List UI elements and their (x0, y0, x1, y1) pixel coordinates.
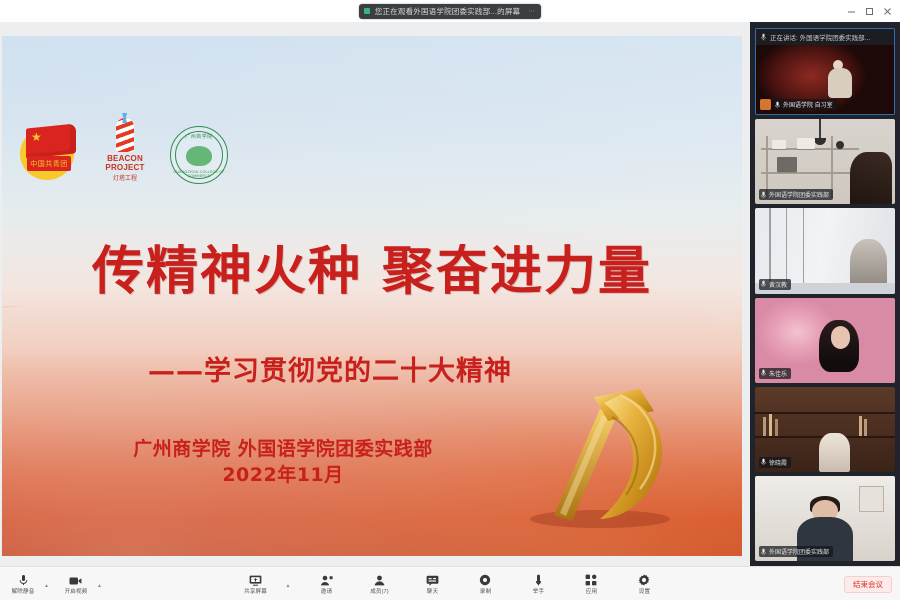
share-screen-button[interactable]: 共享屏幕 (239, 573, 273, 595)
beacon-line2: PROJECT (94, 163, 156, 172)
participant-tile-5[interactable]: 徐晓霞 (755, 387, 895, 472)
microphone-icon (761, 33, 766, 41)
slide-main-title: 传精神火种 聚奋进力量 (2, 246, 742, 298)
microphone-icon (761, 458, 766, 466)
microphone-icon (761, 191, 766, 199)
chat-label: 聊天 (427, 587, 438, 595)
settings-label: 设置 (639, 587, 650, 595)
seal-bottom-text: GUANGZHOU COLLEGE OF COMMERCE (171, 170, 227, 178)
apps-label: 应用 (586, 587, 597, 595)
seal-top-text: 广州商学院 (171, 133, 227, 140)
meeting-toolbar: 解除静音 ▲ 开启视频 ▲ 共享屏幕 ▲ (0, 566, 900, 600)
record-label: 录制 (480, 587, 491, 595)
raise-hand-label: 举手 (533, 587, 544, 595)
minimize-icon[interactable] (843, 3, 860, 20)
maximize-icon[interactable] (861, 3, 878, 20)
video-options-chevron-down-icon[interactable]: ▲ (97, 583, 102, 589)
raise-hand-button[interactable]: 举手 (521, 573, 555, 595)
participant-name-text: 外国语学院 自习室 (783, 100, 833, 109)
window-controls (843, 0, 896, 22)
participant-tile-3[interactable]: 黄汉教 (755, 208, 895, 293)
participant-name-text: 外国语学院团委实践部 (769, 547, 829, 556)
meeting-body: ★ 中国共青团 BEACON PROJECT 灯塔工程 广州商学院 GUANGZ… (0, 22, 900, 566)
shared-screen-stage[interactable]: ★ 中国共青团 BEACON PROJECT 灯塔工程 广州商学院 GUANGZ… (0, 22, 750, 566)
toolbar-right-group: 结束会议 (844, 574, 892, 594)
mute-options-chevron-down-icon[interactable]: ▲ (44, 583, 49, 589)
microphone-icon (775, 101, 780, 109)
close-icon[interactable] (879, 3, 896, 20)
slide-organization: 广州商学院 外国语学院团委实践部 2022年11月 (2, 436, 742, 488)
mute-button-label: 解除静音 (12, 587, 35, 595)
apps-button[interactable]: 应用 (574, 573, 608, 595)
grid-apps-icon (585, 573, 597, 586)
share-options-chevron-down-icon[interactable]: ▲ (286, 583, 291, 589)
screen-share-banner[interactable]: 您正在观看外国语学院团委实践部...的屏幕 ⋯ (359, 4, 541, 19)
video-button[interactable]: 开启视频 (59, 573, 93, 595)
presentation-slide: ★ 中国共青团 BEACON PROJECT 灯塔工程 广州商学院 GUANGZ… (2, 36, 742, 556)
participant-name-text: 徐晓霞 (769, 458, 787, 467)
toolbar-left-group: 解除静音 ▲ 开启视频 ▲ (6, 573, 102, 595)
microphone-icon (761, 280, 766, 288)
share-banner-menu-icon[interactable]: ⋯ (528, 7, 534, 15)
monitor-icon (249, 573, 262, 586)
slide-subtitle: ——学习贯彻党的二十大精神 (2, 349, 742, 388)
participant-name-badge: 外国语学院团委实践部 (759, 189, 833, 200)
participant-tile-2[interactable]: 外国语学院团委实践部 (755, 119, 895, 204)
gear-icon (638, 573, 650, 586)
slide-logo-row: ★ 中国共青团 BEACON PROJECT 灯塔工程 广州商学院 GUANGZ… (18, 118, 228, 184)
title-bar: 您正在观看外国语学院团委实践部...的屏幕 ⋯ (0, 0, 900, 22)
camera-icon (69, 573, 82, 586)
settings-button[interactable]: 设置 (627, 573, 661, 595)
video-button-label: 开启视频 (65, 587, 88, 595)
guangzhou-college-seal: 广州商学院 GUANGZHOU COLLEGE OF COMMERCE (170, 126, 228, 184)
invite-button[interactable]: 邀请 (309, 573, 343, 595)
members-label: 成员(7) (370, 587, 389, 595)
beacon-project-logo: BEACON PROJECT 灯塔工程 (94, 118, 156, 184)
microphone-icon (761, 369, 766, 377)
communist-youth-league-logo: ★ 中国共青团 (18, 122, 80, 184)
invite-label: 邀请 (321, 587, 332, 595)
participant-name-badge: 外国语学院团委实践部 (759, 546, 833, 557)
beacon-cn: 灯塔工程 (94, 173, 156, 182)
end-meeting-button[interactable]: 结束会议 (844, 576, 892, 594)
participant-name-text: 黄汉教 (769, 280, 787, 289)
share-status-dot (364, 8, 370, 14)
host-avatar-chip (760, 99, 771, 110)
record-button[interactable]: 录制 (468, 573, 502, 595)
share-screen-label: 共享屏幕 (244, 587, 267, 595)
participant-name-badge: 朱佳乐 (759, 368, 791, 379)
participant-tile-6[interactable]: 外国语学院团委实践部 (755, 476, 895, 561)
active-speaker-bar: 正在讲话: 外国语学院团委实践部... (756, 29, 894, 45)
participant-name-text: 朱佳乐 (769, 369, 787, 378)
members-button[interactable]: 成员(7) (362, 573, 396, 595)
participant-name-badge: 黄汉教 (759, 279, 791, 290)
people-icon (373, 573, 386, 586)
microphone-icon (19, 573, 28, 586)
microphone-icon (761, 548, 766, 556)
participant-tile-4[interactable]: 朱佳乐 (755, 298, 895, 383)
participant-rail[interactable]: 正在讲话: 外国语学院团委实践部... 外国语学院 自习室 (750, 22, 900, 566)
toolbar-center-group: 共享屏幕 ▲ 邀请 成员(7) 聊天 (239, 573, 662, 595)
chat-button[interactable]: 聊天 (415, 573, 449, 595)
record-dot-icon (479, 573, 491, 586)
chat-bubble-icon (426, 573, 439, 586)
slide-date: 2022年11月 (2, 462, 564, 488)
cyl-band-text: 中国共青团 (27, 156, 71, 171)
participant-tile-speaking[interactable]: 正在讲话: 外国语学院团委实践部... 外国语学院 自习室 (755, 28, 895, 115)
participant-name-text: 外国语学院团委实践部 (769, 190, 829, 199)
meeting-window: 您正在观看外国语学院团委实践部...的屏幕 ⋯ (0, 0, 900, 600)
share-banner-text: 您正在观看外国语学院团委实践部...的屏幕 (375, 6, 520, 17)
active-speaker-label: 正在讲话: 外国语学院团委实践部... (770, 32, 870, 42)
mute-button[interactable]: 解除静音 (6, 573, 40, 595)
participant-name-badge: 外国语学院 自习室 (773, 99, 837, 110)
invite-person-icon (320, 573, 333, 586)
beacon-line1: BEACON (94, 154, 156, 163)
hand-icon (534, 573, 543, 586)
participant-name-badge: 徐晓霞 (759, 457, 791, 468)
slide-org-line: 广州商学院 外国语学院团委实践部 (2, 436, 564, 462)
